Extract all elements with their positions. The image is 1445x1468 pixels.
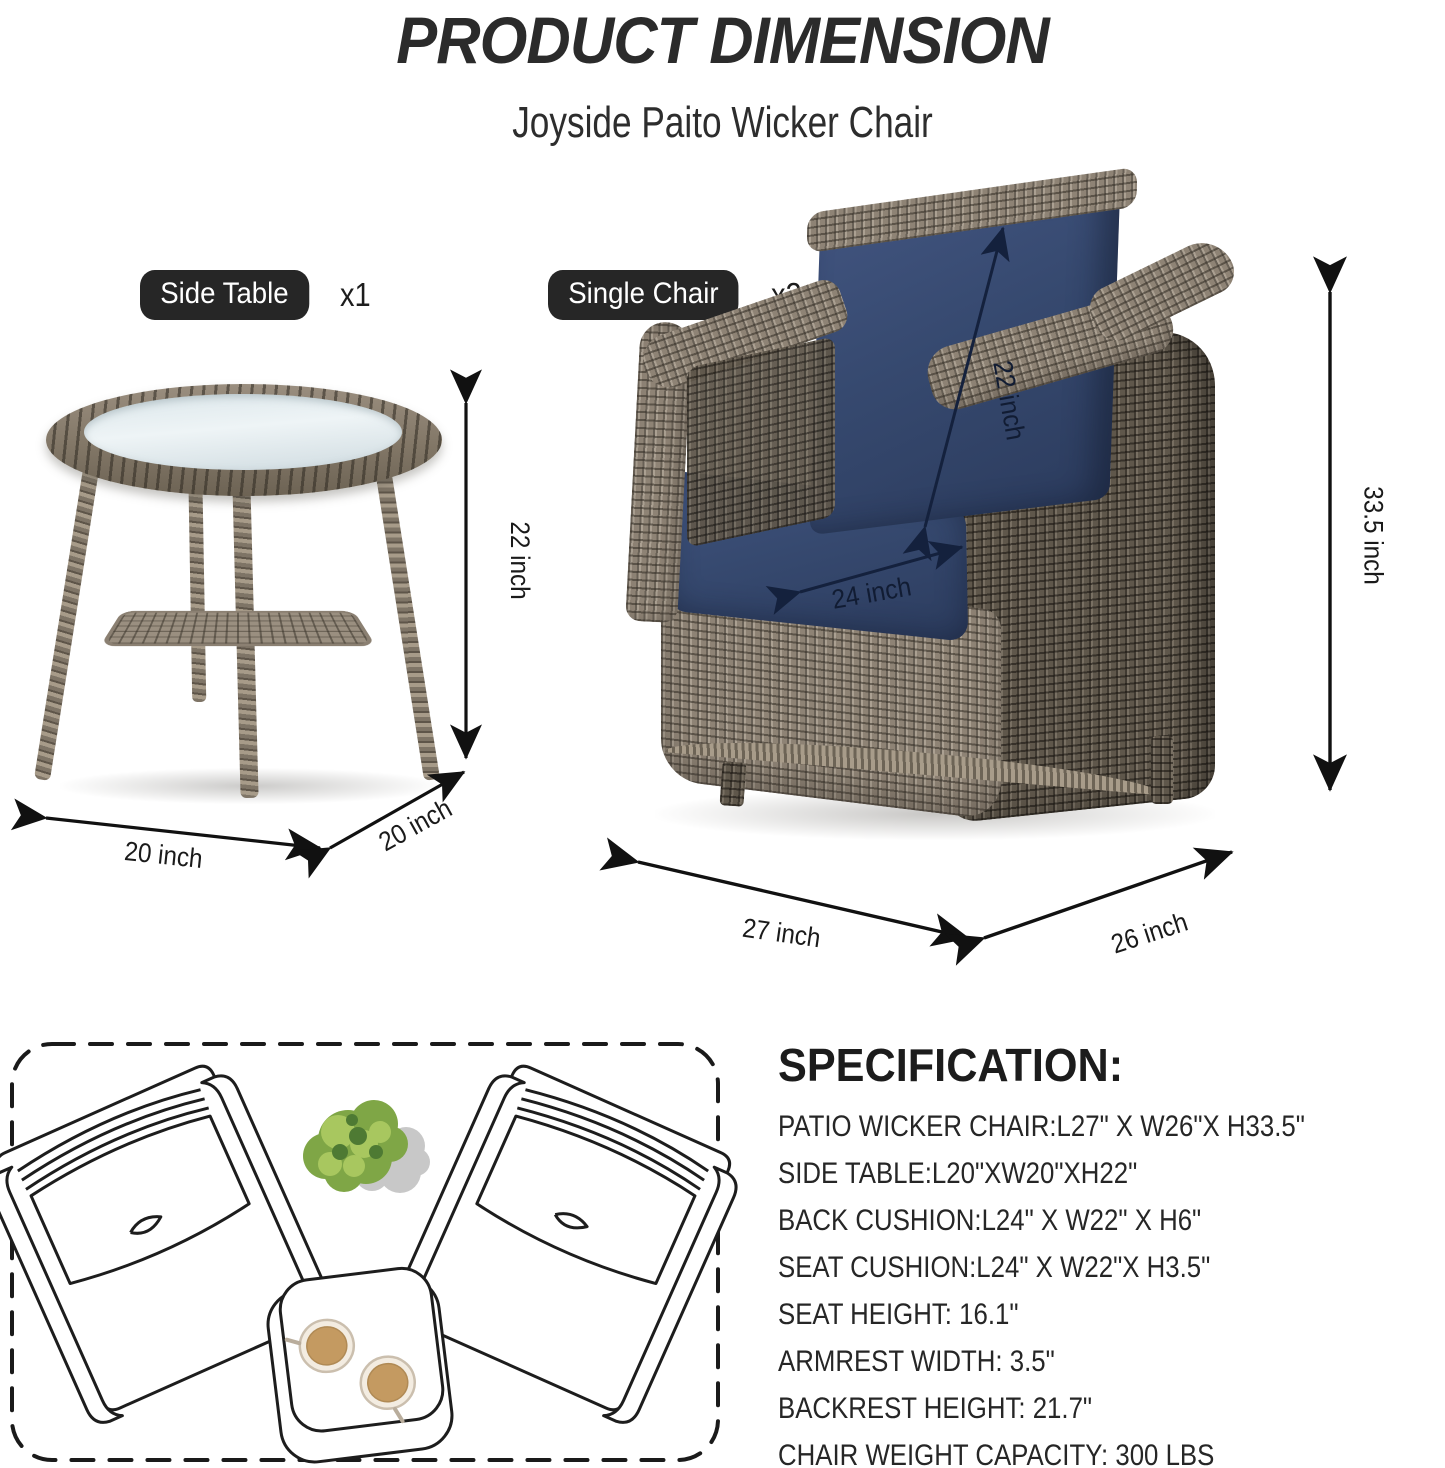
side-table-width-label: 20 inch: [123, 836, 204, 875]
chair-length-label: 27 inch: [741, 913, 823, 955]
chair-height-label: 33.5 inch: [1357, 486, 1388, 585]
layout-table-outer: [264, 1274, 456, 1466]
chair-rear-leg: [1151, 736, 1173, 804]
badge-side-table-count: x1: [340, 276, 371, 314]
layout-frame: [12, 1044, 718, 1460]
page-title: PRODUCT DIMENSION: [51, 2, 1395, 78]
spec-line: BACK CUSHION:L24" X W22" X H6": [778, 1206, 1350, 1236]
page-subtitle: Joyside Paito Wicker Chair: [145, 98, 1301, 148]
side-table-badge-row: Side Table x1: [140, 270, 374, 320]
chair-width-line: [984, 852, 1232, 938]
specification-heading: SPECIFICATION:: [778, 1038, 1123, 1092]
layout-table-inner: [277, 1265, 446, 1434]
layout-table: [263, 1264, 456, 1466]
layout-chair-left: [0, 1056, 340, 1428]
spec-line: SEAT HEIGHT: 16.1": [778, 1300, 1350, 1330]
spec-line: BACKREST HEIGHT: 21.7": [778, 1394, 1350, 1424]
chair-left-inner-panel: [687, 336, 835, 547]
spec-line: SIDE TABLE:L20"XW20"XH22": [778, 1159, 1350, 1189]
layout-chair-right: [386, 1056, 748, 1428]
layout-coffee-cup: [285, 1317, 357, 1377]
side-table-leg-front-left: [34, 437, 104, 781]
spec-line: SEAT CUSHION:L24" X W22"X H3.5": [778, 1253, 1350, 1283]
layout-coffee-cup: [358, 1354, 420, 1426]
side-table-leg-front-right: [370, 437, 440, 781]
chair-photo: [625, 190, 1285, 850]
spec-line: CHAIR WEIGHT CAPACITY: 300 LBS: [778, 1441, 1350, 1468]
chair-front-leg: [719, 761, 746, 807]
layout-diagram: [0, 1044, 748, 1466]
side-table-photo: [40, 380, 460, 820]
specification-list: PATIO WICKER CHAIR:L27" X W26"X H33.5" S…: [778, 1112, 1443, 1468]
badge-side-table: Side Table: [140, 270, 309, 320]
side-table-height-label: 22 inch: [504, 521, 535, 599]
side-table-glass-top: [84, 394, 402, 470]
spec-line: ARMREST WIDTH: 3.5": [778, 1347, 1350, 1377]
layout-plant: [303, 1100, 430, 1193]
spec-line: PATIO WICKER CHAIR:L27" X W26"X H33.5": [778, 1112, 1350, 1142]
side-table-lower-shelf: [100, 611, 376, 646]
chair-width-label: 26 inch: [1107, 907, 1191, 961]
